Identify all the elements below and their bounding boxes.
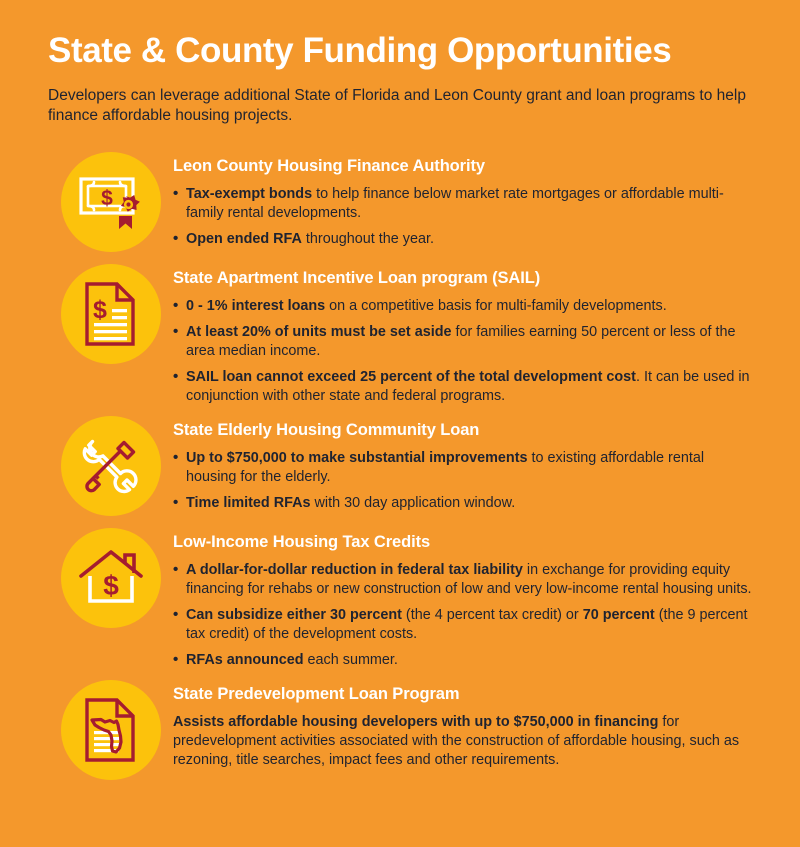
section-body: State Elderly Housing Community Loan Up … [173,412,752,513]
bullet-rest: (the 4 percent tax credit) or [402,607,583,623]
section-body: State Apartment Incentive Loan program (… [173,260,752,406]
bullet-lead: SAIL loan cannot exceed 25 percent of th… [186,369,636,385]
svg-text:$: $ [103,570,119,601]
section-leon-county-housing-finance-authority: $ Leon County Housing Finance Authority … [48,148,752,252]
money-award-icon: $ [61,152,161,252]
section-low-income-housing-tax-credits: $ Low-Income Housing Tax Credits A dolla… [48,524,752,670]
section-body: Low-Income Housing Tax Credits A dollar-… [173,524,752,670]
section-title: State Predevelopment Loan Program [173,684,752,704]
bullet-rest: each summer. [304,652,398,668]
bullet-rest: throughout the year. [302,231,434,247]
icon-column: $ [48,148,173,252]
section-title: State Apartment Incentive Loan program (… [173,268,752,288]
list-item: A dollar-for-dollar reduction in federal… [173,561,752,599]
florida-document-icon [61,680,161,780]
list-item: Can subsidize either 30 percent (the 4 p… [173,606,752,644]
bullet-lead: Open ended RFA [186,231,302,247]
list-item: 0 - 1% interest loans on a competitive b… [173,297,752,316]
infographic-poster: State & County Funding Opportunities Dev… [0,0,800,847]
icon-column [48,412,173,516]
bullet-lead: At least 20% of units must be set aside [186,324,452,340]
section-state-elderly-housing-community-loan: State Elderly Housing Community Loan Up … [48,412,752,516]
list-item: Time limited RFAs with 30 day applicatio… [173,494,752,513]
program-sections: $ Leon County Housing Finance Authority … [48,148,752,780]
bullet-rest: with 30 day application window. [310,495,515,511]
section-title: State Elderly Housing Community Loan [173,420,752,440]
bullet-lead: Time limited RFAs [186,495,310,511]
bullet-lead: Tax-exempt bonds [186,186,312,202]
svg-text:$: $ [101,187,113,210]
section-title: Leon County Housing Finance Authority [173,156,752,176]
list-item: Tax-exempt bonds to help finance below m… [173,185,752,223]
bullet-list: 0 - 1% interest loans on a competitive b… [173,297,752,406]
section-state-predevelopment-loan-program: State Predevelopment Loan Program Assist… [48,676,752,780]
bullet-lead-2: 70 percent [583,607,655,623]
icon-column: $ [48,260,173,364]
section-paragraph: Assists affordable housing developers wi… [173,713,752,770]
svg-text:$: $ [93,296,107,324]
bullet-rest: on a competitive basis for multi-family … [325,298,667,314]
poster-header: State & County Funding Opportunities Dev… [48,0,752,126]
page-title: State & County Funding Opportunities [48,30,752,72]
bullet-list: Tax-exempt bonds to help finance below m… [173,185,752,249]
bullet-list: Up to $750,000 to make substantial impro… [173,449,752,513]
icon-column [48,676,173,780]
list-item: Open ended RFA throughout the year. [173,230,752,249]
list-item: Up to $750,000 to make substantial impro… [173,449,752,487]
paragraph-lead: Assists affordable housing developers wi… [173,714,658,730]
bullet-lead: Up to $750,000 to make substantial impro… [186,450,528,466]
section-body: Leon County Housing Finance Authority Ta… [173,148,752,249]
bullet-lead: 0 - 1% interest loans [186,298,325,314]
intro-paragraph: Developers can leverage additional State… [48,86,748,126]
bullet-lead: RFAs announced [186,652,304,668]
wrench-screwdriver-icon [61,416,161,516]
icon-column: $ [48,524,173,628]
list-item: RFAs announced each summer. [173,651,752,670]
bullet-lead: A dollar-for-dollar reduction in federal… [186,562,523,578]
bullet-lead: Can subsidize either 30 percent [186,607,402,623]
section-body: State Predevelopment Loan Program Assist… [173,676,752,770]
section-title: Low-Income Housing Tax Credits [173,532,752,552]
house-dollar-icon: $ [61,528,161,628]
bullet-list: A dollar-for-dollar reduction in federal… [173,561,752,670]
section-state-apartment-incentive-loan: $ State Apartment Incentive Loan program… [48,260,752,406]
document-dollar-icon: $ [61,264,161,364]
list-item: At least 20% of units must be set aside … [173,323,752,361]
list-item: SAIL loan cannot exceed 25 percent of th… [173,368,752,406]
